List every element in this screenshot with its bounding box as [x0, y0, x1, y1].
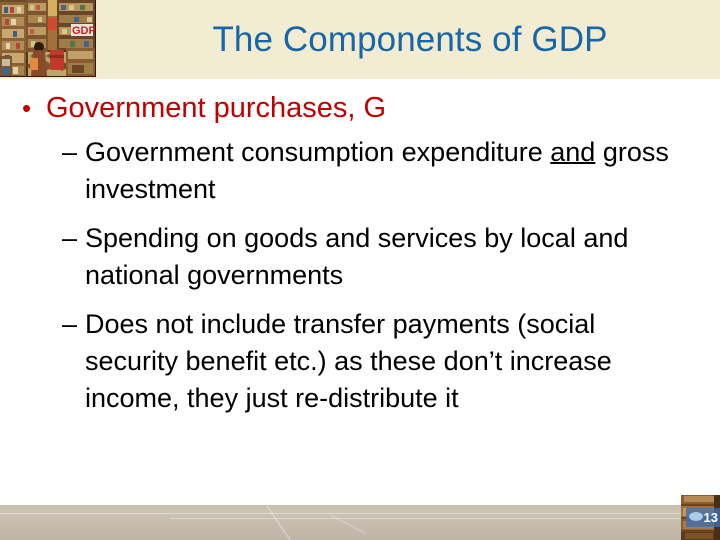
dash-icon: – [62, 220, 77, 257]
slide-number-badge: 13 [686, 508, 720, 527]
bullet-level1: •Government purchases, G [22, 90, 712, 126]
svg-text:GDP: GDP [72, 25, 95, 37]
floor-seam [170, 518, 720, 519]
floor-texture-band [0, 505, 720, 540]
sub-bullet-1-part-a: Government consumption expenditure [85, 137, 550, 167]
slide-body: •Government purchases, G – Government co… [0, 79, 720, 505]
bullet-dot-icon: • [22, 90, 46, 126]
floor-seam [0, 513, 720, 514]
sub-bullet-1-label: Government consumption expenditure and g… [85, 134, 682, 208]
dash-icon: – [62, 134, 77, 171]
shop-interior-thumbnail-icon: GDP [0, 0, 96, 77]
badge-ellipse-icon [689, 512, 703, 521]
floor-seam-diagonal [262, 505, 292, 540]
sub-bullet-3-label: Does not include transfer payments (soci… [85, 306, 682, 417]
sub-bullet-list: – Government consumption expenditure and… [62, 134, 682, 417]
sub-bullet-2: – Spending on goods and services by loca… [62, 220, 682, 294]
sub-bullet-3: – Does not include transfer payments (so… [62, 306, 682, 417]
presentation-slide: GDP The Components of GDP •Government pu… [0, 0, 720, 540]
bullet-level1-label: Government purchases, G [46, 92, 386, 124]
slide-number: 13 [704, 510, 718, 525]
page-title: The Components of GDP [110, 12, 710, 68]
sub-bullet-1-underlined: and [550, 137, 595, 167]
sub-bullet-2-label: Spending on goods and services by local … [85, 220, 682, 294]
dash-icon: – [62, 306, 77, 343]
sub-bullet-1: – Government consumption expenditure and… [62, 134, 682, 208]
